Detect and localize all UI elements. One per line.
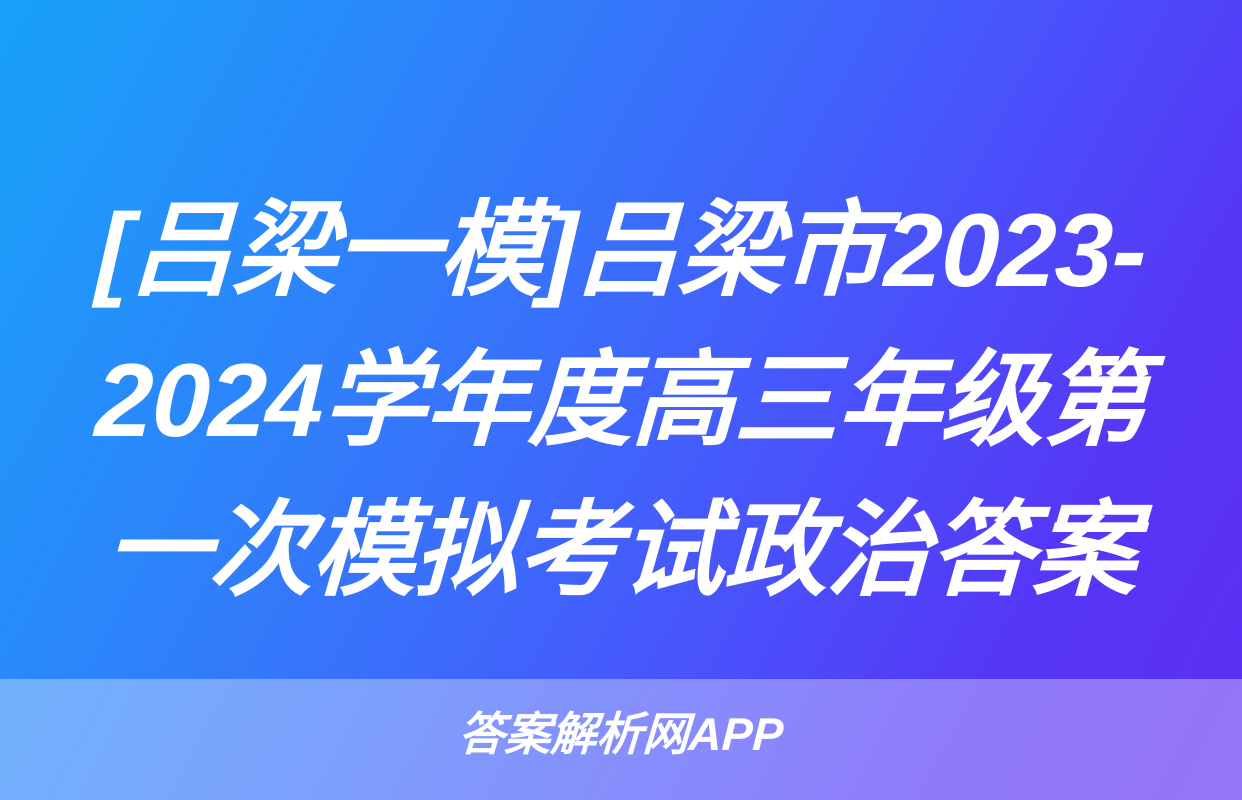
title-line-1: [吕梁一模]吕梁市2023- [21,176,1220,326]
title-line-2: 2024学年度高三年级第 [21,326,1220,476]
app-watermark: 答案解析网APP [0,703,1242,765]
page-title: [吕梁一模]吕梁市2023- 2024学年度高三年级第 一次模拟考试政治答案 [0,176,1242,626]
title-line-3: 一次模拟考试政治答案 [21,476,1220,626]
poster-canvas: [吕梁一模]吕梁市2023- 2024学年度高三年级第 一次模拟考试政治答案 答… [0,0,1242,800]
